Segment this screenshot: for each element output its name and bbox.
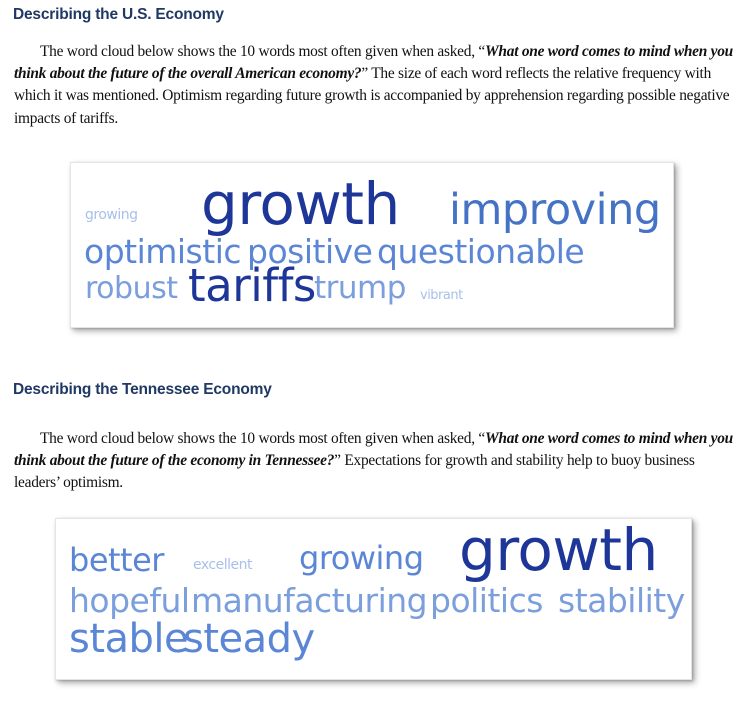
paragraph-lead-text: The word cloud below shows the 10 words … (40, 430, 485, 447)
cloud-word-better[interactable]: better (69, 544, 164, 576)
section-heading-us-economy: Describing the U.S. Economy (13, 6, 224, 24)
cloud-word-trump[interactable]: trump (314, 273, 406, 304)
cloud-word-hopeful[interactable]: hopeful (69, 584, 190, 617)
cloud-word-growth[interactable]: growth (201, 175, 400, 233)
cloud-word-growing[interactable]: growing (299, 542, 424, 574)
cloud-word-robust[interactable]: robust (85, 274, 177, 304)
cloud-word-steady[interactable]: steady (183, 619, 315, 659)
cloud-word-manufacturing[interactable]: manufacturing (191, 584, 427, 617)
cloud-word-growing[interactable]: growing (85, 208, 138, 222)
cloud-word-questionable[interactable]: questionable (377, 235, 584, 268)
paragraph-us-economy: The word cloud below shows the 10 words … (14, 41, 736, 130)
cloud-word-growth[interactable]: growth (459, 521, 658, 579)
cloud-word-vibrant[interactable]: vibrant (420, 289, 463, 302)
word-cloud-us-canvas: growth improving growing optimistic posi… (71, 163, 673, 327)
word-cloud-us-economy: growth improving growing optimistic posi… (70, 162, 674, 328)
word-cloud-tn-canvas: better excellent growing growth hopeful … (56, 519, 691, 679)
cloud-word-stability[interactable]: stability (558, 584, 685, 617)
cloud-word-improving[interactable]: improving (449, 189, 661, 232)
paragraph-lead-text: The word cloud below shows the 10 words … (40, 43, 485, 60)
cloud-word-tariffs[interactable]: tariffs (188, 263, 316, 308)
word-cloud-tennessee-economy: better excellent growing growth hopeful … (55, 518, 692, 680)
section-heading-tennessee-economy: Describing the Tennessee Economy (13, 381, 272, 399)
paragraph-tennessee-economy: The word cloud below shows the 10 words … (14, 428, 736, 495)
cloud-word-stable[interactable]: stable (69, 619, 188, 659)
cloud-word-politics[interactable]: politics (430, 584, 543, 617)
page-root: { "sections": [ { "heading": "Describing… (0, 0, 750, 706)
cloud-word-excellent[interactable]: excellent (193, 558, 252, 572)
